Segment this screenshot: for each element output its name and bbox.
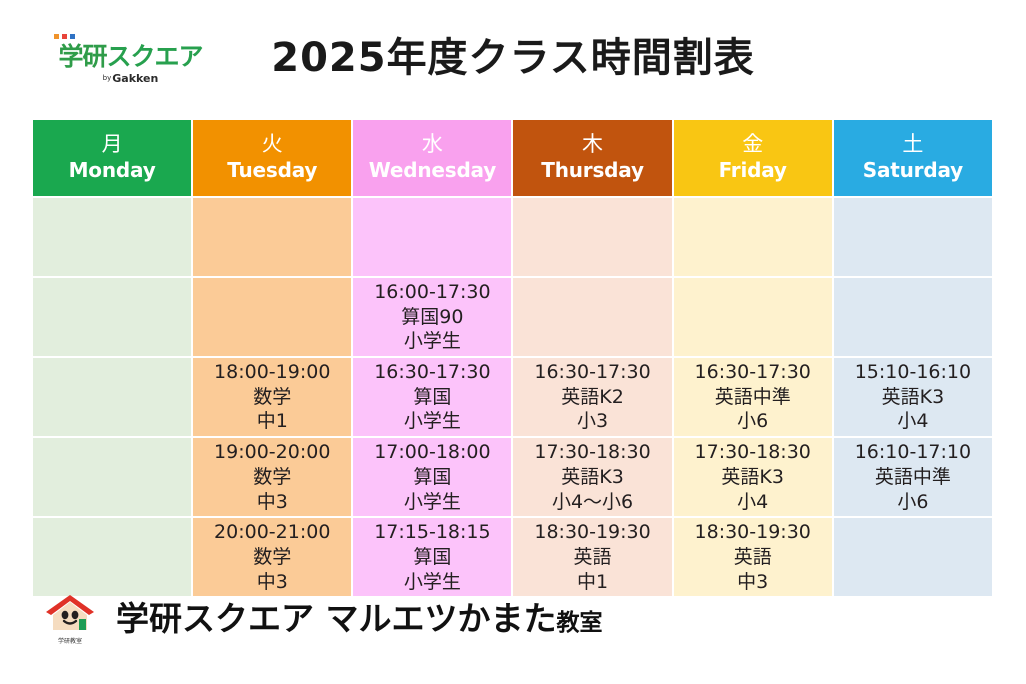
column-header-saturday-kanji: 土 [834,133,992,157]
class-grade: 中1 [513,570,671,595]
column-header-thursday: 木 Thursday [513,120,671,196]
class-cell-friday[interactable] [674,278,832,356]
class-cell-monday[interactable] [33,358,191,436]
class-grade: 小学生 [353,570,511,595]
table-row: 18:00-19:00 数学 中1 16:30-17:30 算国 小学生 16:… [33,358,992,436]
class-cell-friday[interactable]: 18:30-19:30 英語 中3 [674,518,832,596]
class-grade: 中3 [193,490,351,515]
class-grade: 小6 [834,490,992,515]
column-header-tuesday: 火 Tuesday [193,120,351,196]
column-header-wednesday-english: Wednesday [353,159,511,181]
class-subject: 算国 [353,545,511,570]
column-header-thursday-kanji: 木 [513,133,671,157]
class-cell-tuesday[interactable] [193,278,351,356]
class-subject: 英語K2 [513,385,671,410]
column-header-monday-english: Monday [33,159,191,181]
class-subject: 数学 [193,465,351,490]
class-subject: 数学 [193,545,351,570]
class-time: 17:00-18:00 [353,440,511,465]
class-cell-tuesday[interactable]: 19:00-20:00 数学 中3 [193,438,351,516]
class-grade: 小4〜小6 [513,490,671,515]
class-cell-thursday[interactable]: 16:30-17:30 英語K2 小3 [513,358,671,436]
table-body: 16:00-17:30 算国90 小学生 [33,198,992,596]
class-subject: 英語 [674,545,832,570]
class-cell-saturday[interactable] [834,198,992,276]
table-header-row: 月 Monday 火 Tuesday 水 Wednesday 木 Thursda… [33,120,992,196]
class-grade: 中1 [193,409,351,434]
class-subject: 英語K3 [834,385,992,410]
column-header-monday-kanji: 月 [33,133,191,157]
class-cell-saturday[interactable] [834,518,992,596]
class-cell-wednesday[interactable]: 17:00-18:00 算国 小学生 [353,438,511,516]
column-header-monday: 月 Monday [33,120,191,196]
class-grade: 小学生 [353,490,511,515]
class-cell-saturday[interactable]: 16:10-17:10 英語中準 小6 [834,438,992,516]
class-subject: 英語中準 [834,465,992,490]
class-cell-thursday[interactable]: 17:30-18:30 英語K3 小4〜小6 [513,438,671,516]
school-name: 学研スクエア マルエツかまた [116,599,557,638]
column-header-wednesday: 水 Wednesday [353,120,511,196]
class-cell-friday[interactable]: 17:30-18:30 英語K3 小4 [674,438,832,516]
column-header-saturday: 土 Saturday [834,120,992,196]
class-grade: 中3 [193,570,351,595]
table-row: 16:00-17:30 算国90 小学生 [33,278,992,356]
table-row [33,198,992,276]
class-time: 15:10-16:10 [834,360,992,385]
class-time: 16:30-17:30 [674,360,832,385]
class-grade: 小学生 [353,329,511,354]
class-subject: 英語中準 [674,385,832,410]
class-grade: 小4 [834,409,992,434]
page-header: 学研スクエア byGakken 2025年度クラス時間割表 [0,0,1026,112]
class-cell-wednesday[interactable] [353,198,511,276]
class-time: 16:30-17:30 [353,360,511,385]
column-header-tuesday-english: Tuesday [193,159,351,181]
column-header-tuesday-kanji: 火 [193,133,351,157]
class-cell-monday[interactable] [33,438,191,516]
class-time: 18:30-19:30 [513,520,671,545]
school-name-suffix: 教室 [557,610,603,636]
class-schedule-table: 月 Monday 火 Tuesday 水 Wednesday 木 Thursda… [31,118,994,598]
class-time: 16:10-17:10 [834,440,992,465]
column-header-friday-kanji: 金 [674,133,832,157]
class-time: 20:00-21:00 [193,520,351,545]
page-footer: 学研教室 学研スクエア マルエツかまた教室 [38,592,603,645]
class-cell-thursday[interactable]: 18:30-19:30 英語 中1 [513,518,671,596]
house-smiley-icon [44,592,96,634]
class-time: 17:30-18:30 [674,440,832,465]
class-cell-saturday[interactable] [834,278,992,356]
class-time: 16:00-17:30 [353,280,511,305]
class-cell-monday[interactable] [33,198,191,276]
class-time: 16:30-17:30 [513,360,671,385]
column-header-thursday-english: Thursday [513,159,671,181]
class-grade: 小6 [674,409,832,434]
class-subject: 算国 [353,465,511,490]
class-cell-wednesday[interactable]: 16:00-17:30 算国90 小学生 [353,278,511,356]
class-subject: 算国 [353,385,511,410]
class-cell-wednesday[interactable]: 16:30-17:30 算国 小学生 [353,358,511,436]
class-time: 18:30-19:30 [674,520,832,545]
class-cell-tuesday[interactable] [193,198,351,276]
class-time: 18:00-19:00 [193,360,351,385]
column-header-saturday-english: Saturday [834,159,992,181]
class-grade: 小4 [674,490,832,515]
class-cell-monday[interactable] [33,518,191,596]
page-title: 2025年度クラス時間割表 [0,36,1026,80]
class-cell-friday[interactable]: 16:30-17:30 英語中準 小6 [674,358,832,436]
table-row: 20:00-21:00 数学 中3 17:15-18:15 算国 小学生 18:… [33,518,992,596]
timetable-container: 月 Monday 火 Tuesday 水 Wednesday 木 Thursda… [31,118,994,598]
class-cell-saturday[interactable]: 15:10-16:10 英語K3 小4 [834,358,992,436]
column-header-friday-english: Friday [674,159,832,181]
class-subject: 英語K3 [513,465,671,490]
table-header: 月 Monday 火 Tuesday 水 Wednesday 木 Thursda… [33,120,992,196]
class-cell-tuesday[interactable]: 20:00-21:00 数学 中3 [193,518,351,596]
class-cell-thursday[interactable] [513,198,671,276]
gakken-classroom-logo: 学研教室 [38,592,102,645]
class-cell-thursday[interactable] [513,278,671,356]
class-grade: 中3 [674,570,832,595]
column-header-wednesday-kanji: 水 [353,133,511,157]
classroom-logo-caption: 学研教室 [58,636,82,645]
class-subject: 英語 [513,545,671,570]
column-header-friday: 金 Friday [674,120,832,196]
class-cell-monday[interactable] [33,278,191,356]
class-subject: 英語K3 [674,465,832,490]
class-cell-tuesday[interactable]: 18:00-19:00 数学 中1 [193,358,351,436]
table-row: 19:00-20:00 数学 中3 17:00-18:00 算国 小学生 17:… [33,438,992,516]
class-time: 17:15-18:15 [353,520,511,545]
class-subject: 算国90 [353,305,511,330]
school-name-label: 学研スクエア マルエツかまた教室 [116,602,603,635]
class-cell-wednesday[interactable]: 17:15-18:15 算国 小学生 [353,518,511,596]
class-time: 19:00-20:00 [193,440,351,465]
class-time: 17:30-18:30 [513,440,671,465]
class-grade: 小3 [513,409,671,434]
class-cell-friday[interactable] [674,198,832,276]
class-grade: 小学生 [353,409,511,434]
class-subject: 数学 [193,385,351,410]
